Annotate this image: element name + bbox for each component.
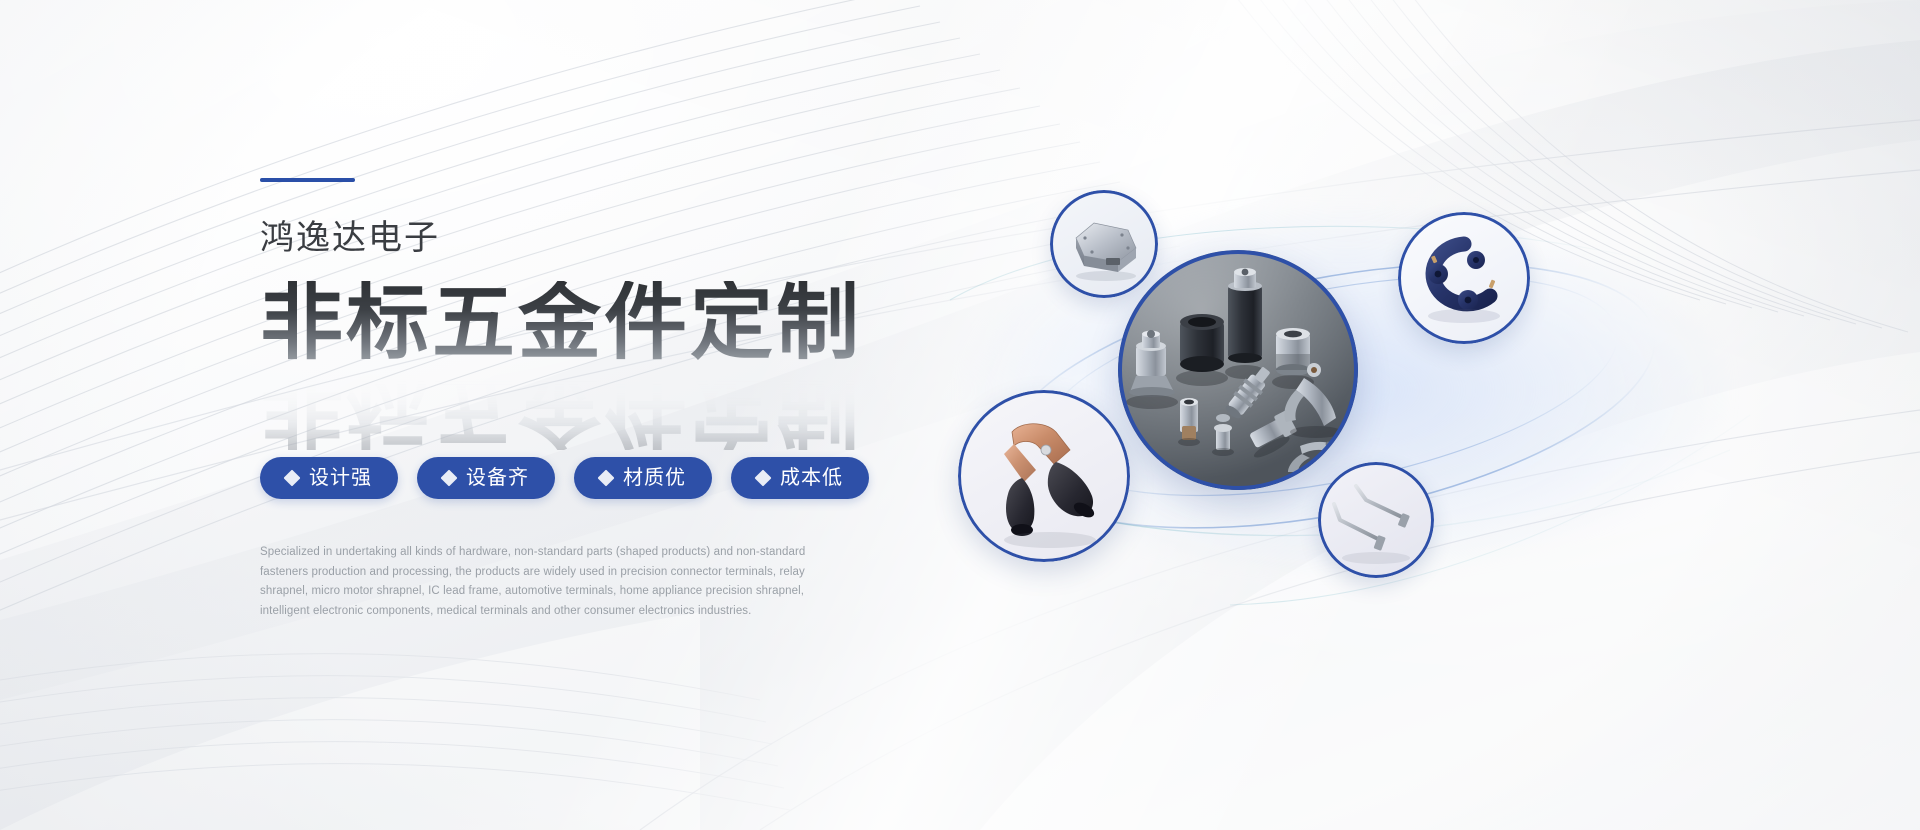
product-visual [930, 150, 1760, 620]
feature-tag-label: 成本低 [780, 468, 843, 488]
bubble-machined-parts[interactable] [1118, 250, 1358, 490]
retaining-ring-illustration [1398, 212, 1530, 344]
hero-content: 鸿逸达电子 非标五金件定制 非标五金件定制 设计强 设备齐 材质优 成本低 [260, 178, 940, 622]
feature-tag-label: 设备齐 [466, 468, 529, 488]
feature-tag-list: 设计强 设备齐 材质优 成本低 [260, 457, 940, 499]
bubble-retaining-ring[interactable] [1398, 212, 1530, 344]
feature-tag-cost[interactable]: 成本低 [731, 457, 869, 499]
company-description: Specialized in undertaking all kinds of … [260, 543, 825, 622]
feature-tag-label: 设计强 [309, 468, 372, 488]
bubble-battery-clamp[interactable] [958, 390, 1130, 562]
bubble-terminal-pins[interactable] [1318, 462, 1434, 578]
feature-tag-equipment[interactable]: 设备齐 [417, 457, 555, 499]
diamond-icon [755, 469, 772, 486]
copper-battery-clamp-photo [958, 390, 1130, 562]
feature-tag-material[interactable]: 材质优 [574, 457, 712, 499]
machined-parts-illustration [1118, 250, 1358, 490]
feature-tag-design[interactable]: 设计强 [260, 457, 398, 499]
blue-retaining-ring-photo [1398, 212, 1530, 344]
diamond-icon [284, 469, 301, 486]
page-title: 非标五金件定制 [260, 281, 940, 364]
bent-terminal-pins-photo [1318, 462, 1434, 578]
metal-machined-parts-photo [1118, 250, 1358, 490]
page-title-reflection: 非标五金件定制 [260, 367, 862, 450]
diamond-icon [441, 469, 458, 486]
headline-group: 非标五金件定制 非标五金件定制 [260, 281, 940, 413]
battery-clamp-illustration [958, 390, 1130, 562]
accent-bar [260, 178, 355, 182]
terminal-pins-illustration [1318, 462, 1434, 578]
feature-tag-label: 材质优 [623, 468, 686, 488]
hero-banner: 鸿逸达电子 非标五金件定制 非标五金件定制 设计强 设备齐 材质优 成本低 [0, 0, 1920, 830]
diamond-icon [598, 469, 615, 486]
brand-name: 鸿逸达电子 [260, 218, 940, 259]
